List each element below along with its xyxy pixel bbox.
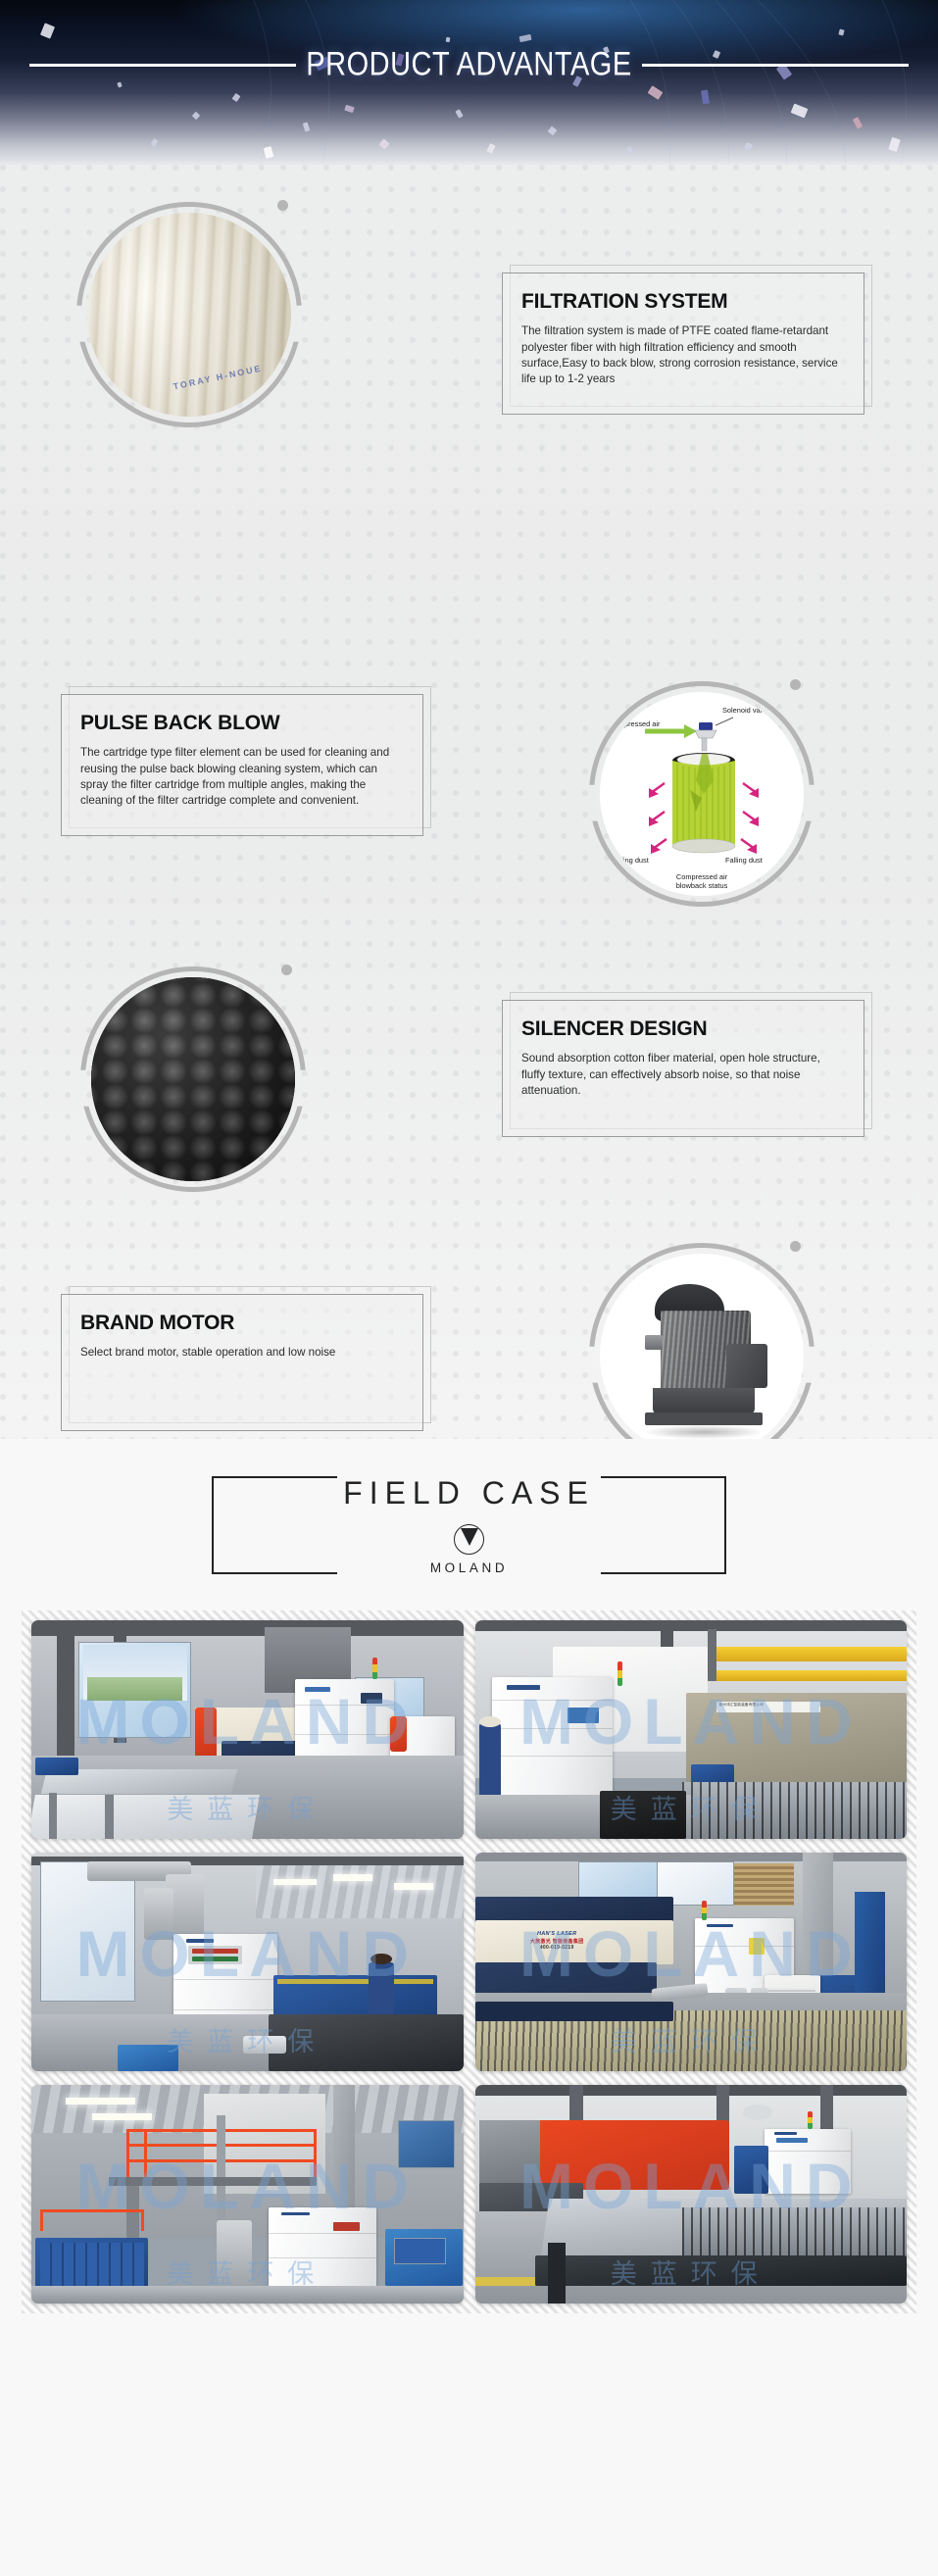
bracket-right: [601, 1476, 726, 1574]
medallion-dot: [277, 200, 288, 211]
feature-card-brand-motor: BRAND MOTOR Select brand motor, stable o…: [61, 1294, 423, 1431]
case-photo-5[interactable]: MOLAND 美蓝环保: [31, 2085, 464, 2304]
feature-title: FILTRATION SYSTEM: [521, 290, 846, 313]
feature-description: The cartridge type filter element can be…: [80, 745, 405, 810]
machine-nameplate: 徐州鸿汇智能装备有限公司: [718, 1703, 764, 1708]
field-case-title: FIELD CASE: [343, 1475, 595, 1511]
filtration-media-medallion: TORAY H-NOUE: [76, 202, 302, 427]
feature-title: BRAND MOTOR: [80, 1312, 405, 1334]
feature-title: PULSE BACK BLOW: [80, 712, 405, 734]
case-photo-1[interactable]: MOLAND 美蓝环保: [31, 1620, 464, 1839]
feature-card-filtration-system: FILTRATION SYSTEM The filtration system …: [502, 272, 864, 415]
banner-rule-right: [642, 64, 909, 67]
medallion-dot: [281, 965, 292, 975]
photo-watermark-cn: 美蓝环保: [475, 2253, 908, 2291]
medallion-ring: [589, 1243, 815, 1468]
bracket-left: [212, 1476, 337, 1574]
machine-brand-plate: HAN'S LASER 大族激光 智能装备集团 400-019-0219: [514, 1931, 600, 1952]
photo-watermark-cn: 美蓝环保: [475, 2020, 908, 2058]
photo-watermark-cn: 美蓝环保: [31, 2253, 464, 2291]
machine-phone: 400-019-0219: [514, 1945, 600, 1952]
field-case-title-group: FIELD CASE MOLAND: [337, 1475, 601, 1575]
field-case-gallery: MOLAND 美蓝环保: [22, 1610, 916, 2313]
banner-title-row: PRODUCT ADVANTAGE: [0, 49, 938, 81]
medallion-dot: [790, 1241, 801, 1252]
case-photo-2[interactable]: 徐州鸿汇智能装备有限公司 MOLAND 美蓝环保: [475, 1620, 908, 1839]
banner-rule-left: [29, 64, 296, 67]
case-photo-6[interactable]: MOLAND 美蓝环保: [475, 2085, 908, 2304]
card-body-frame: BRAND MOTOR Select brand motor, stable o…: [61, 1294, 423, 1431]
machine-brand-en: HAN'S LASER: [514, 1931, 600, 1938]
feature-title: SILENCER DESIGN: [521, 1017, 846, 1040]
photo-watermark-cn: 美蓝环保: [31, 1788, 464, 1826]
medallion-ring: [80, 966, 306, 1192]
photo-watermark-cn: 美蓝环保: [475, 1788, 908, 1826]
medallion-dot: [790, 679, 801, 690]
page-title: PRODUCT ADVANTAGE: [296, 46, 641, 84]
feature-description: The filtration system is made of PTFE co…: [521, 323, 846, 388]
medallion-ring: [76, 202, 302, 427]
machine-brand-cn: 大族激光 智能装备集团: [514, 1939, 600, 1946]
field-case-header: FIELD CASE MOLAND: [0, 1439, 938, 1610]
features-section: TORAY H-NOUE FILTRATION SYSTEM The filtr…: [0, 165, 938, 1439]
circle-chevron-down-icon: [454, 1524, 484, 1555]
card-body-frame: PULSE BACK BLOW The cartridge type filte…: [61, 694, 423, 836]
brand-name: MOLAND: [343, 1560, 595, 1575]
photo-watermark-cn: 美蓝环保: [31, 2020, 464, 2058]
medallion-ring: [589, 681, 815, 907]
feature-card-silencer-design: SILENCER DESIGN Sound absorption cotton …: [502, 1000, 864, 1137]
card-body-frame: SILENCER DESIGN Sound absorption cotton …: [502, 1000, 864, 1137]
silencer-media-medallion: [80, 966, 306, 1192]
page-banner: PRODUCT ADVANTAGE: [0, 0, 938, 165]
case-photo-4[interactable]: HAN'S LASER 大族激光 智能装备集团 400-019-0219: [475, 1853, 908, 2071]
field-case-section: FIELD CASE MOLAND: [0, 1439, 938, 2576]
case-photo-3[interactable]: MOLAND 美蓝环保: [31, 1853, 464, 2071]
pulse-diagram-medallion: compressed air Solenoid valve Falling du…: [589, 681, 815, 907]
card-body-frame: FILTRATION SYSTEM The filtration system …: [502, 272, 864, 415]
motor-media-medallion: [589, 1243, 815, 1468]
product-advantage-page: PRODUCT ADVANTAGE TORAY H-NOUE FILTRATIO…: [0, 0, 938, 2576]
feature-description: Sound absorption cotton fiber material, …: [521, 1051, 846, 1099]
feature-description: Select brand motor, stable operation and…: [80, 1345, 405, 1361]
feature-card-pulse-back-blow: PULSE BACK BLOW The cartridge type filte…: [61, 694, 423, 836]
